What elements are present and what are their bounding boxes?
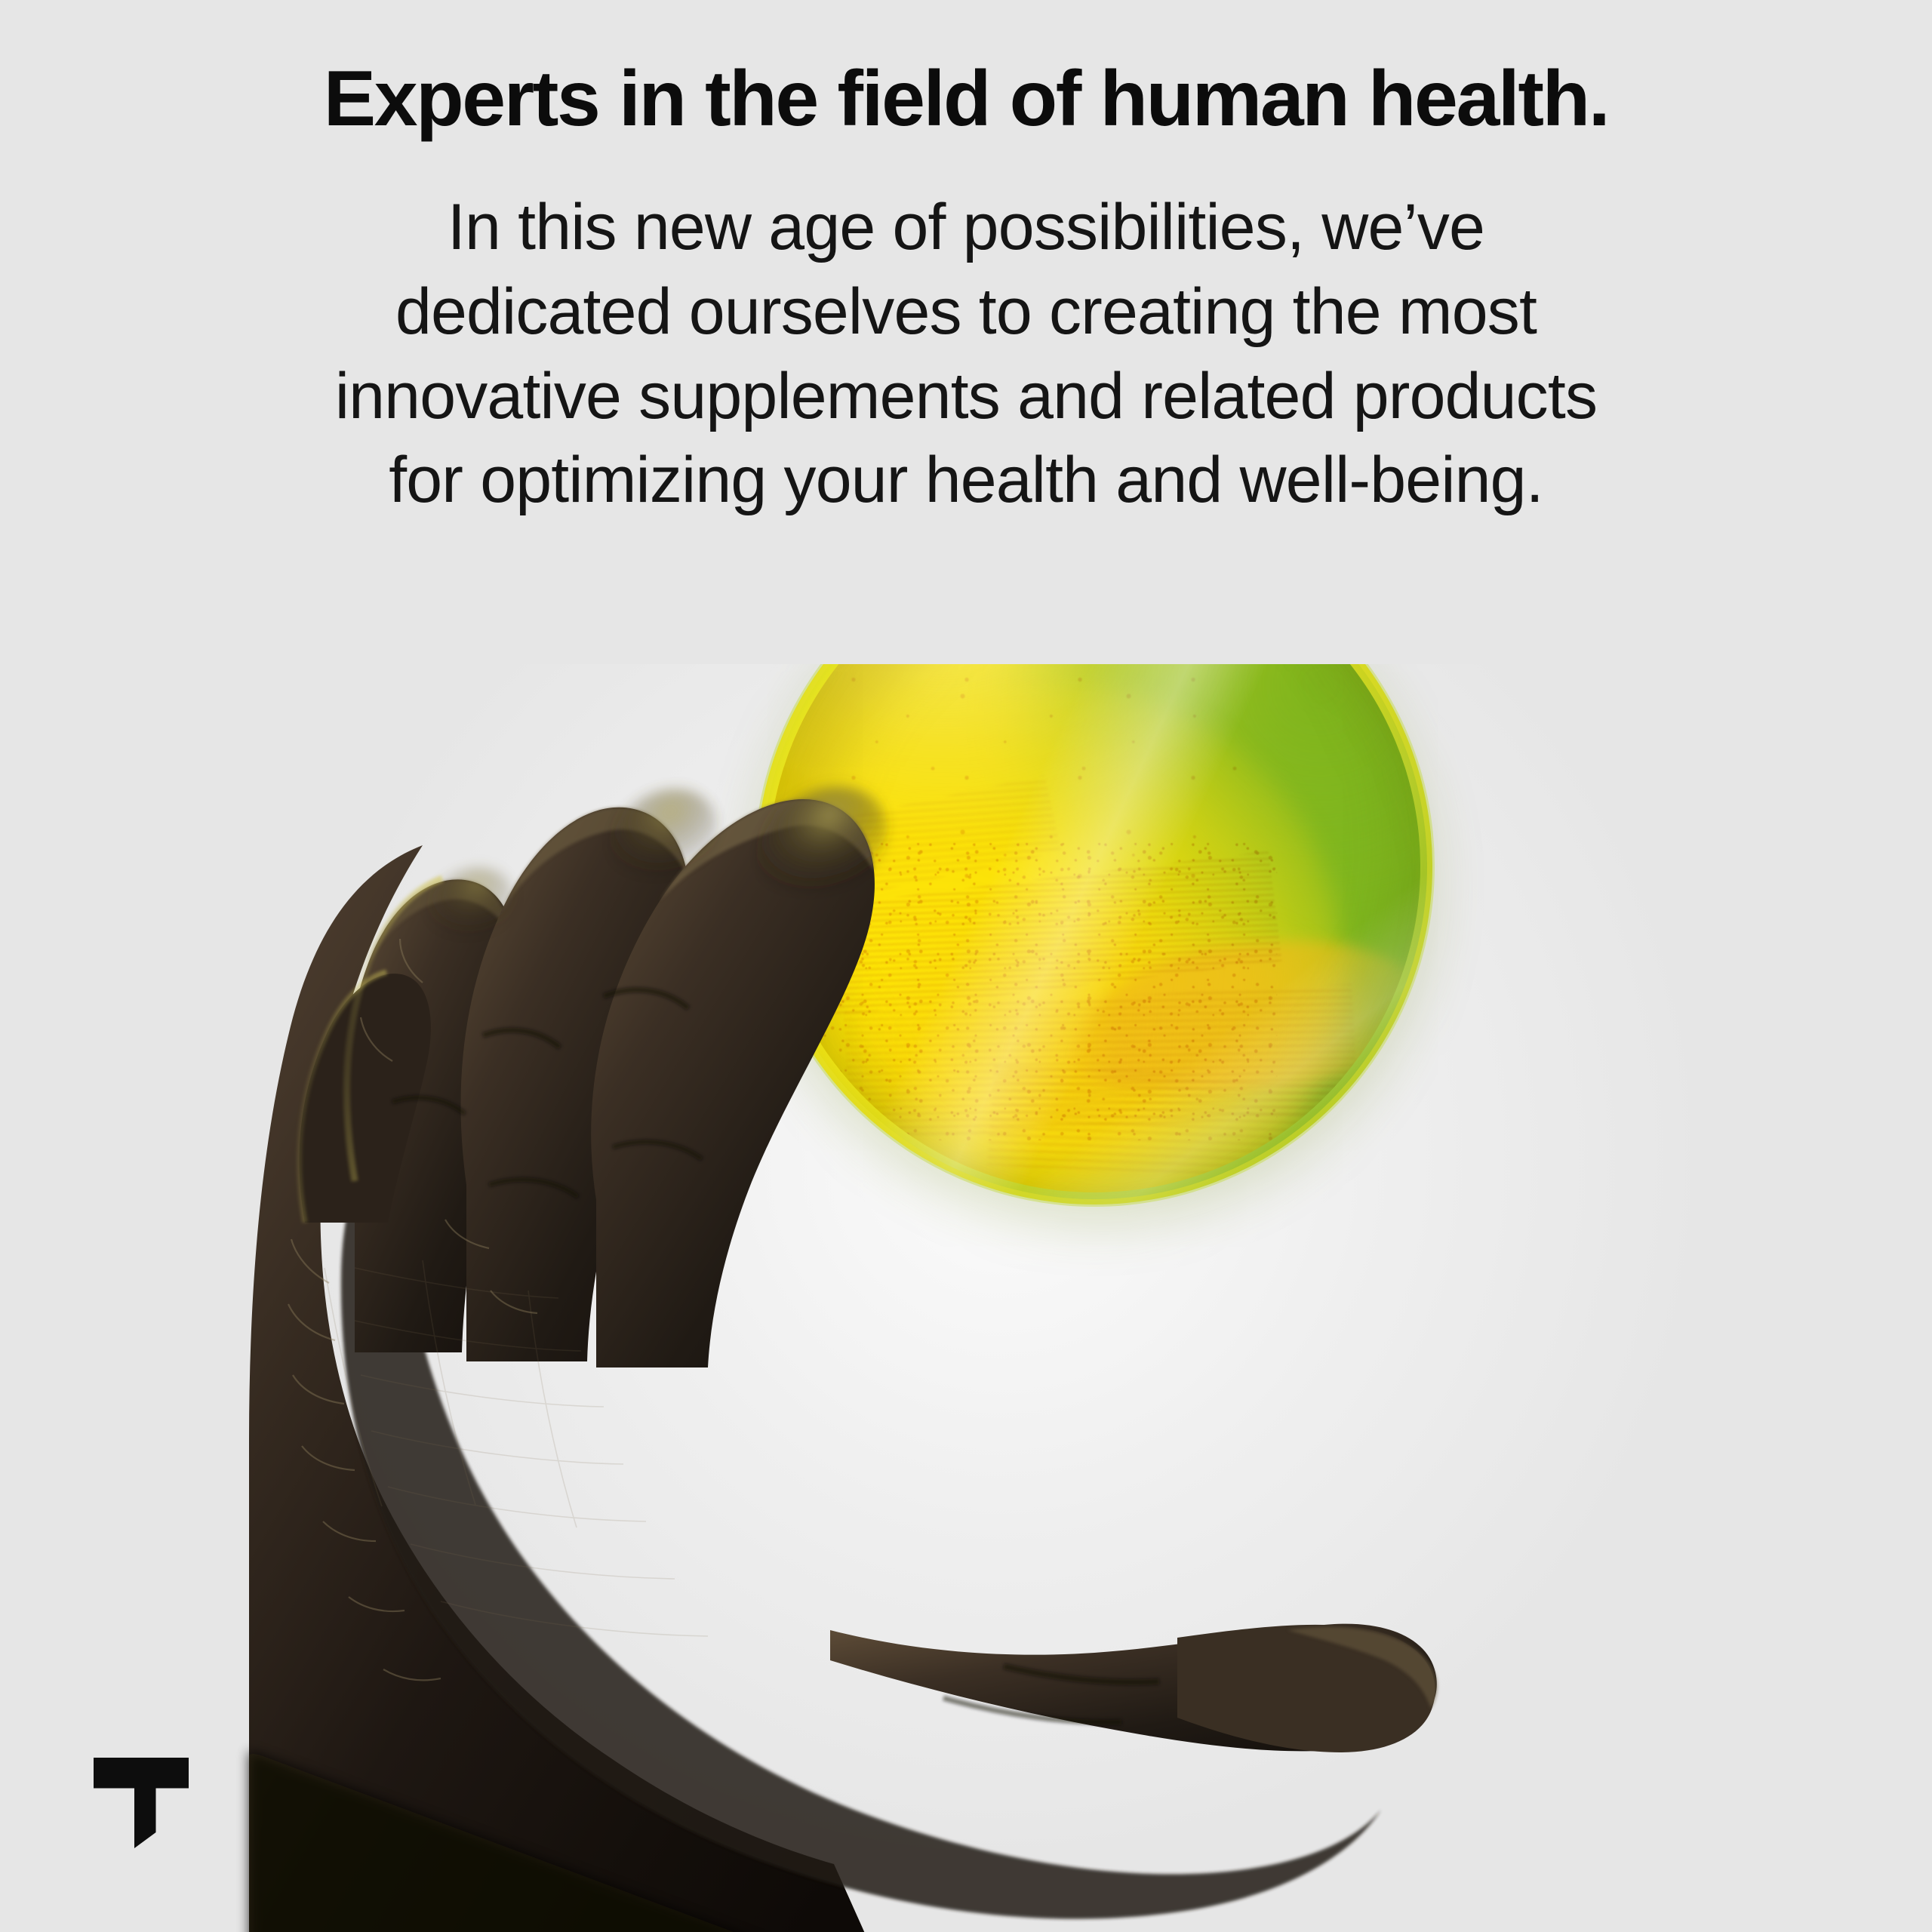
petri-dish (756, 664, 1432, 1204)
body-copy-line-2: dedicated ourselves to creating the most (0, 270, 1932, 355)
body-copy-line-3: innovative supplements and related produ… (0, 355, 1932, 439)
body-copy: In this new age of possibilities, we’ve … (0, 139, 1932, 523)
body-copy-line-4: for optimizing your health and well-bein… (0, 438, 1932, 523)
brand-logo[interactable] (85, 1746, 198, 1860)
page-title: Experts in the field of human health. (0, 0, 1932, 139)
logo-letter-t-icon (85, 1746, 198, 1860)
text-block: Experts in the field of human health. In… (0, 0, 1932, 523)
petri-dish-agar (768, 664, 1420, 1192)
hero-photograph (0, 664, 1932, 1932)
poster-canvas: Experts in the field of human health. In… (0, 0, 1932, 1932)
body-copy-line-1: In this new age of possibilities, we’ve (0, 186, 1932, 270)
